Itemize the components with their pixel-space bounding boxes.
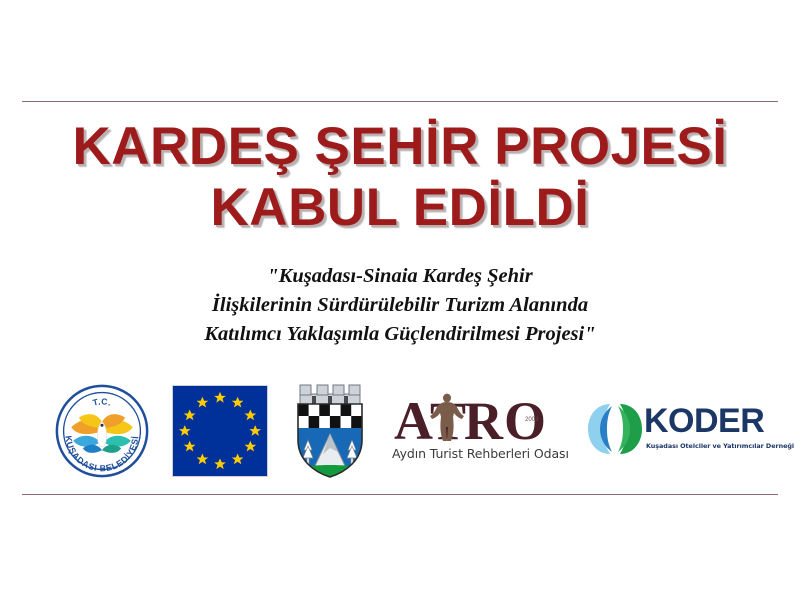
subtitle-line-1: "Kuşadası-Sinaia Kardeş Şehir xyxy=(0,262,800,291)
svg-text:R: R xyxy=(464,391,504,447)
koder-wordmark: KODER xyxy=(644,404,764,438)
headline-line-1: KARDEŞ ŞEHİR PROJESİ xyxy=(0,120,800,173)
slide-canvas: KARDEŞ ŞEHİR PROJESİ KABUL EDİLDİ "Kuşad… xyxy=(0,0,800,600)
subtitle-line-3: Katılımcı Yaklaşımla Güçlendirilmesi Pro… xyxy=(0,320,800,349)
page-title: KARDEŞ ŞEHİR PROJESİ KABUL EDİLDİ xyxy=(0,120,800,234)
atro-logo: A T R O 2003 Aydın Turist Rehberleri Oda… xyxy=(392,391,564,471)
koder-logo: KODER Kuşadası Otelciler ve Yatırımcılar… xyxy=(586,394,746,468)
project-subtitle: "Kuşadası-Sinaia Kardeş Şehir İlişkileri… xyxy=(0,262,800,349)
atro-year: 2003 xyxy=(525,417,539,423)
headline-line-2: KABUL EDİLDİ xyxy=(0,181,800,234)
koder-tagline: Kuşadası Otelciler ve Yatırımcılar Derne… xyxy=(646,442,758,450)
european-union-flag xyxy=(172,385,268,477)
subtitle-line-2: İlişkilerinin Sürdürülebilir Turizm Alan… xyxy=(0,291,800,320)
sinaia-coat-of-arms xyxy=(290,382,370,480)
kusadasi-belediyesi-logo: T.C. KUŞADASI BELEDİYESİ xyxy=(54,383,150,479)
svg-text:A: A xyxy=(394,391,433,447)
atro-tagline: Aydın Turist Rehberleri Odası xyxy=(392,446,564,461)
divider-top xyxy=(22,101,778,102)
partner-logo-strip: T.C. KUŞADASI BELEDİYESİ xyxy=(0,381,800,481)
divider-bottom xyxy=(22,494,778,495)
